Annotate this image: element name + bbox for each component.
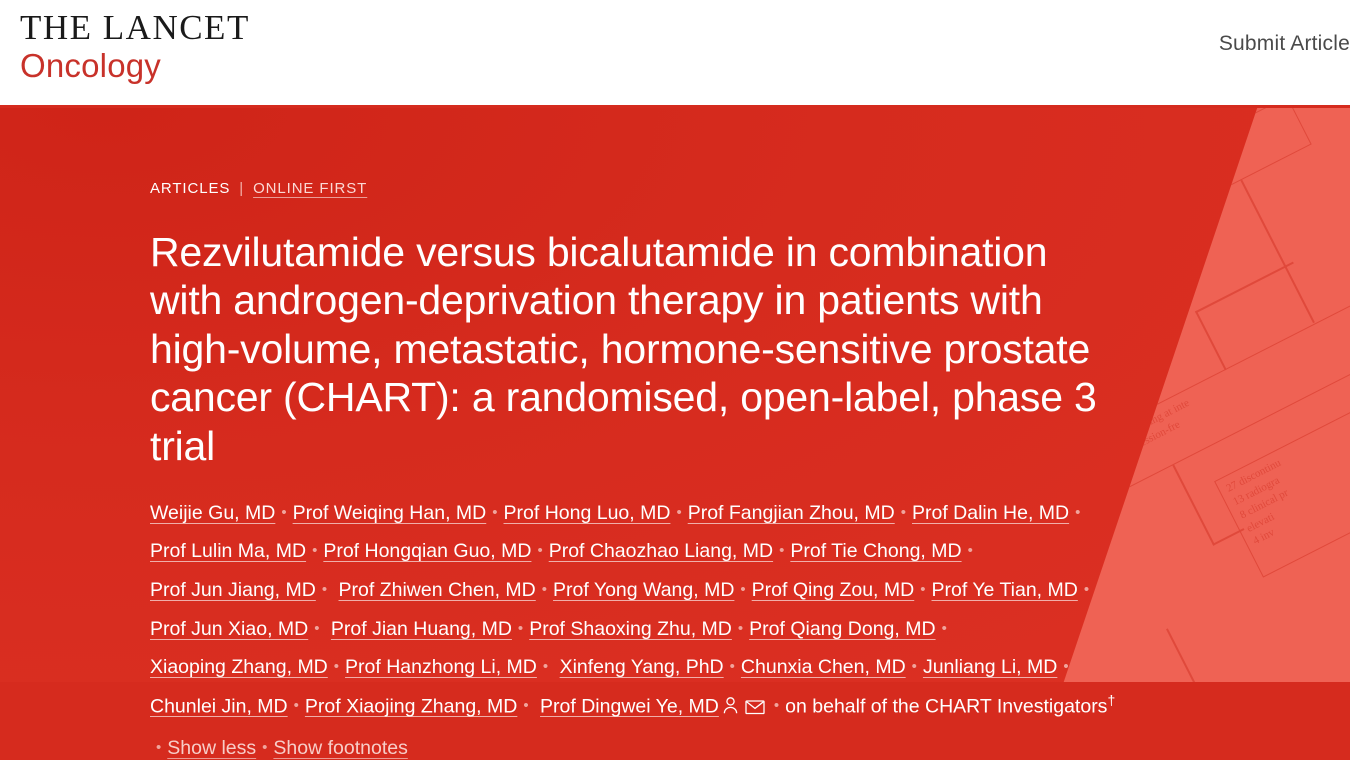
author-separator-dot: • (334, 652, 339, 682)
author-link[interactable]: Xinfeng Yang, PhD (560, 656, 724, 678)
logo-oncology-text: Oncology (20, 49, 250, 82)
author-separator-dot: • (523, 691, 528, 721)
online-first-link[interactable]: ONLINE FIRST (253, 180, 367, 197)
author-separator-dot: • (730, 652, 735, 682)
author-link[interactable]: Chunlei Jin, MD (150, 695, 288, 717)
author-separator-dot: • (740, 575, 745, 605)
watermark-box-1: 3 (1154, 108, 1312, 212)
author-link[interactable]: Prof Jun Jiang, MD (150, 579, 316, 601)
author-link[interactable]: Prof Shaoxing Zhu, MD (529, 618, 732, 640)
author-separator-dot: • (294, 691, 299, 721)
watermark-connector (1212, 528, 1244, 545)
submit-article-link[interactable]: Submit Article (1219, 32, 1350, 56)
breadcrumb-separator: | (239, 180, 244, 197)
author-link[interactable]: Weijie Gu, MD (150, 502, 275, 524)
author-separator-dot: • (779, 536, 784, 566)
author-separator-dot: • (543, 652, 548, 682)
author-link[interactable]: Prof Yong Wang, MD (553, 579, 734, 601)
article-hero-banner: 3 218 ongoing at inte progression-fre 27… (0, 108, 1350, 760)
person-icon[interactable] (722, 690, 739, 729)
page-title: Rezvilutamide versus bicalutamide in com… (150, 228, 1130, 470)
author-separator-dot: • (281, 498, 286, 528)
watermark-connector (1240, 180, 1314, 323)
author-separator-dot: • (912, 652, 917, 682)
breadcrumb: ARTICLES | ONLINE FIRST (150, 180, 1130, 197)
author-link[interactable]: Xiaoping Zhang, MD (150, 656, 328, 678)
author-separator-dot: • (156, 733, 161, 760)
watermark-connector (1195, 311, 1226, 370)
site-logo[interactable]: THE LANCET Oncology (20, 0, 250, 82)
author-link[interactable]: Prof Hanzhong Li, MD (345, 656, 537, 678)
author-link[interactable]: Prof Hongqian Guo, MD (323, 540, 531, 562)
watermark-box-2: 218 ongoing at inte progression-fre (1100, 297, 1350, 488)
author-separator-dot: • (312, 536, 317, 566)
author-link[interactable]: Prof Ye Tian, MD (932, 579, 1078, 601)
watermark-connector (1195, 262, 1294, 313)
author-separator-dot: • (738, 614, 743, 644)
author-separator-dot: • (968, 536, 973, 566)
author-separator-dot: • (942, 614, 947, 644)
author-separator-dot: • (322, 575, 327, 605)
show-less-link[interactable]: Show less (167, 737, 256, 759)
author-separator-dot: • (676, 498, 681, 528)
show-footnotes-link[interactable]: Show footnotes (273, 737, 407, 759)
author-list: Weijie Gu, MD•Prof Weiqing Han, MD•Prof … (150, 494, 1130, 760)
author-separator-dot: • (1063, 652, 1068, 682)
header-nav: Submit Article (1219, 32, 1350, 56)
author-link[interactable]: Prof Weiqing Han, MD (293, 502, 487, 524)
footnote-marker[interactable]: † (1107, 692, 1115, 708)
author-link[interactable]: Prof Jian Huang, MD (331, 618, 512, 640)
corresponding-author-link[interactable]: Prof Dingwei Ye, MD (540, 695, 719, 717)
author-separator-dot: • (314, 614, 319, 644)
author-link[interactable]: Prof Zhiwen Chen, MD (339, 579, 536, 601)
logo-lancet-text: THE LANCET (20, 10, 250, 45)
author-link[interactable]: Prof Xiaojing Zhang, MD (305, 695, 517, 717)
author-separator-dot: • (492, 498, 497, 528)
site-header: THE LANCET Oncology Submit Article (0, 0, 1350, 108)
envelope-icon[interactable] (745, 690, 765, 729)
author-link[interactable]: Prof Jun Xiao, MD (150, 618, 308, 640)
author-link[interactable]: Prof Lulin Ma, MD (150, 540, 306, 562)
author-separator-dot: • (262, 733, 267, 760)
author-separator-dot: • (1075, 498, 1080, 528)
author-separator-dot: • (537, 536, 542, 566)
author-link[interactable]: Prof Tie Chong, MD (790, 540, 961, 562)
author-link[interactable]: Prof Hong Luo, MD (504, 502, 671, 524)
watermark-connector (1172, 465, 1214, 546)
author-separator-dot: • (1084, 575, 1089, 605)
author-link[interactable]: Chunxia Chen, MD (741, 656, 906, 678)
author-separator-dot: • (542, 575, 547, 605)
article-type-label: ARTICLES (150, 180, 230, 197)
author-link[interactable]: Prof Qing Zou, MD (752, 579, 915, 601)
author-link[interactable]: Prof Chaozhao Liang, MD (549, 540, 773, 562)
author-separator-dot: • (774, 691, 779, 721)
watermark-box-3: 27 discontinu 13 radiogra 8 clinical pr … (1214, 354, 1350, 577)
group-author-label: on behalf of the CHART Investigators (785, 695, 1107, 717)
author-link[interactable]: Prof Fangjian Zhou, MD (688, 502, 895, 524)
author-link[interactable]: Prof Qiang Dong, MD (749, 618, 935, 640)
author-separator-dot: • (518, 614, 523, 644)
author-link[interactable]: Prof Dalin He, MD (912, 502, 1069, 524)
author-separator-dot: • (920, 575, 925, 605)
article-header-content: ARTICLES | ONLINE FIRST Rezvilutamide ve… (0, 108, 1130, 760)
author-separator-dot: • (901, 498, 906, 528)
author-link[interactable]: Junliang Li, MD (923, 656, 1057, 678)
